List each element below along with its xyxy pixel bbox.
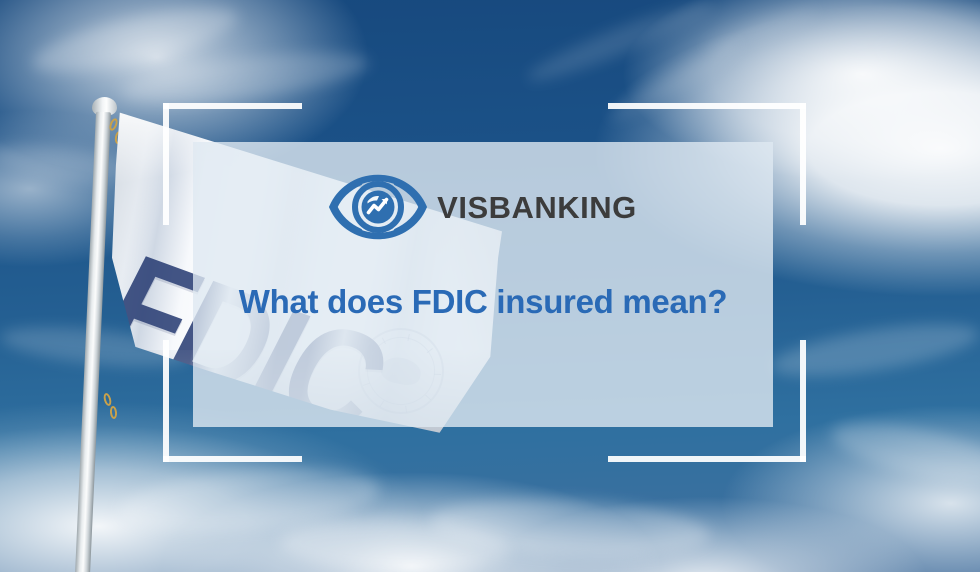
page-title: What does FDIC insured mean? xyxy=(239,284,728,320)
flag-clip-icon xyxy=(102,392,112,406)
visbanking-eye-chart-logo-icon xyxy=(329,174,427,240)
flag-clip-icon xyxy=(109,406,117,420)
banner-content: VISBANKING What does FDIC insured mean? xyxy=(193,142,773,427)
fdic-insured-banner: FDIC xyxy=(0,0,980,572)
flagpole-icon xyxy=(75,112,111,572)
brand-lockup[interactable]: VISBANKING xyxy=(329,174,637,240)
brand-wordmark: VISBANKING xyxy=(437,192,637,223)
